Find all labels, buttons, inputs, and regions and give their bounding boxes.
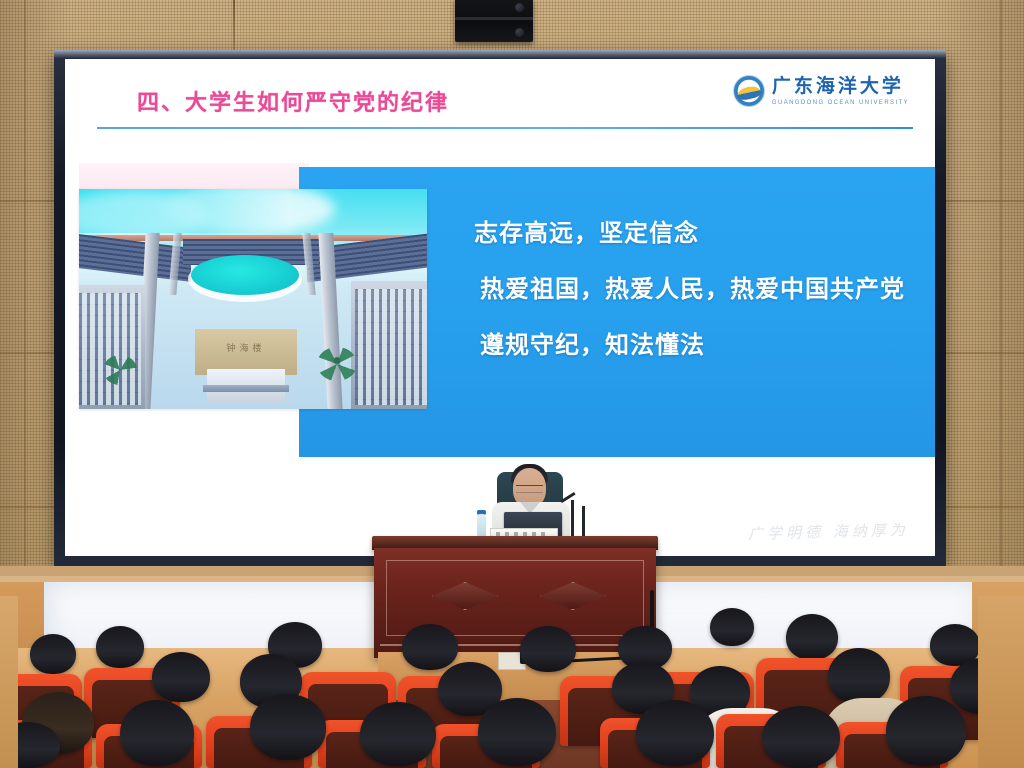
audience-head: [96, 626, 144, 668]
audience-head: [786, 614, 838, 660]
audience-head: [478, 698, 556, 766]
photo-gate-caption: 钟海楼: [195, 341, 297, 354]
title-divider: [97, 127, 913, 129]
university-logo: 广东海洋大学 GUANGDONG OCEAN UNIVERSITY: [733, 75, 909, 107]
audience-area: [0, 596, 1024, 768]
audience-head: [120, 700, 194, 766]
audience-head: [30, 634, 76, 674]
audience-head: [520, 626, 576, 672]
audience-head: [360, 702, 436, 766]
audience-head: [402, 624, 458, 670]
slide-bullet-list: 志存高远，坚定信念 热爱祖国，热爱人民，热爱中国共产党 遵规守纪，知法懂法: [474, 213, 921, 360]
decor-pink-band: [79, 163, 309, 189]
audience-head: [152, 652, 210, 702]
side-wall-left: [0, 596, 18, 768]
slide-title: 四、大学生如何严守党的纪律: [137, 85, 449, 117]
audience-head: [828, 648, 890, 704]
audience-head: [250, 694, 326, 760]
photo-oculus: [191, 255, 299, 295]
audience-head: [886, 696, 966, 766]
slide-line-1: 志存高远，坚定信念: [474, 213, 921, 248]
audience-head: [636, 700, 714, 766]
audience-head: [762, 706, 840, 768]
ceiling-speaker-icon: [455, 0, 533, 42]
ocean-wave-circle-logo-icon: [733, 75, 765, 107]
logo-chinese-name: 广东海洋大学: [772, 77, 909, 96]
logo-english-name: GUANGDONG OCEAN UNIVERSITY: [772, 100, 909, 106]
wall-shadow-right: [934, 0, 1024, 600]
presenter-glasses-icon: [516, 485, 543, 493]
slide-line-3: 遵规守纪，知法懂法: [474, 325, 921, 360]
lecture-hall-scene: 四、大学生如何严守党的纪律 广东海洋大学 GUANGDONG OCEAN UNI…: [0, 0, 1024, 768]
campus-photo: 钟海楼: [79, 189, 427, 409]
side-wall-right: [978, 596, 1024, 768]
slide-line-2: 热爱祖国，热爱人民，热爱中国共产党: [474, 269, 921, 304]
calligraphy-watermark: 广学明德 海纳厚为: [748, 519, 909, 544]
audience-head: [710, 608, 754, 646]
